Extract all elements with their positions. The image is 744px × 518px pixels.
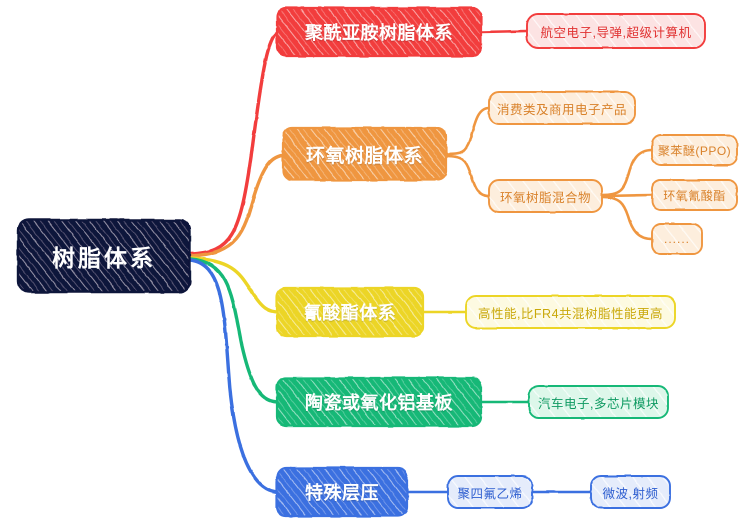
root-connectors [190, 32, 285, 492]
connector-epoxy-blend [446, 156, 489, 196]
connector-blend-epoxy-cyanate [602, 195, 652, 196]
connector-root-ceramic [190, 259, 279, 402]
node-label-epoxy-cyanate[interactable]: 环氧氰酸酯 [652, 180, 737, 210]
node-label-ptfe[interactable]: 聚四氟乙烯 [448, 476, 532, 508]
node-label-cyanate[interactable]: 氰酸酯体系 [277, 288, 423, 336]
connector-root-polyimide [190, 32, 279, 254]
mindmap-canvas: 树脂体系 聚酰亚胺树脂体系 航空电子,导弹,超级计算机 环氧树脂体系 消费类及商… [0, 0, 744, 518]
connector-root-epoxy [190, 155, 285, 256]
node-label-epoxy-blend[interactable]: 环氧树脂混合物 [489, 180, 602, 212]
node-label-polyimide-apps[interactable]: 航空电子,导弹,超级计算机 [527, 14, 705, 48]
node-label-cyanate-perf[interactable]: 高性能,比FR4共混树脂性能更高 [466, 296, 675, 328]
node-label-epoxy-more[interactable]: ...... [652, 224, 702, 254]
node-label-ppo[interactable]: 聚苯醚(PPO) [652, 135, 737, 165]
node-label-epoxy-consumer[interactable]: 消费类及商用电子产品 [489, 92, 635, 124]
node-label-polyimide[interactable]: 聚酰亚胺树脂体系 [277, 8, 481, 56]
connector-root-special-lam [190, 260, 279, 492]
connector-blend-more [602, 197, 652, 239]
node-label-epoxy[interactable]: 环氧树脂体系 [283, 128, 446, 180]
root-node-label[interactable]: 树脂体系 [18, 220, 190, 292]
connector-blend-ppo [602, 150, 652, 195]
connector-epoxy-consumer [446, 108, 489, 154]
node-label-microwave-rf[interactable]: 微波,射频 [591, 476, 670, 508]
node-label-special-lam[interactable]: 特殊层压 [277, 468, 407, 516]
node-label-ceramic-apps[interactable]: 汽车电子,多芯片模块 [529, 386, 668, 418]
node-label-ceramic[interactable]: 陶瓷或氧化铝基板 [277, 378, 481, 426]
connector-polyimide-apps [481, 31, 527, 32]
